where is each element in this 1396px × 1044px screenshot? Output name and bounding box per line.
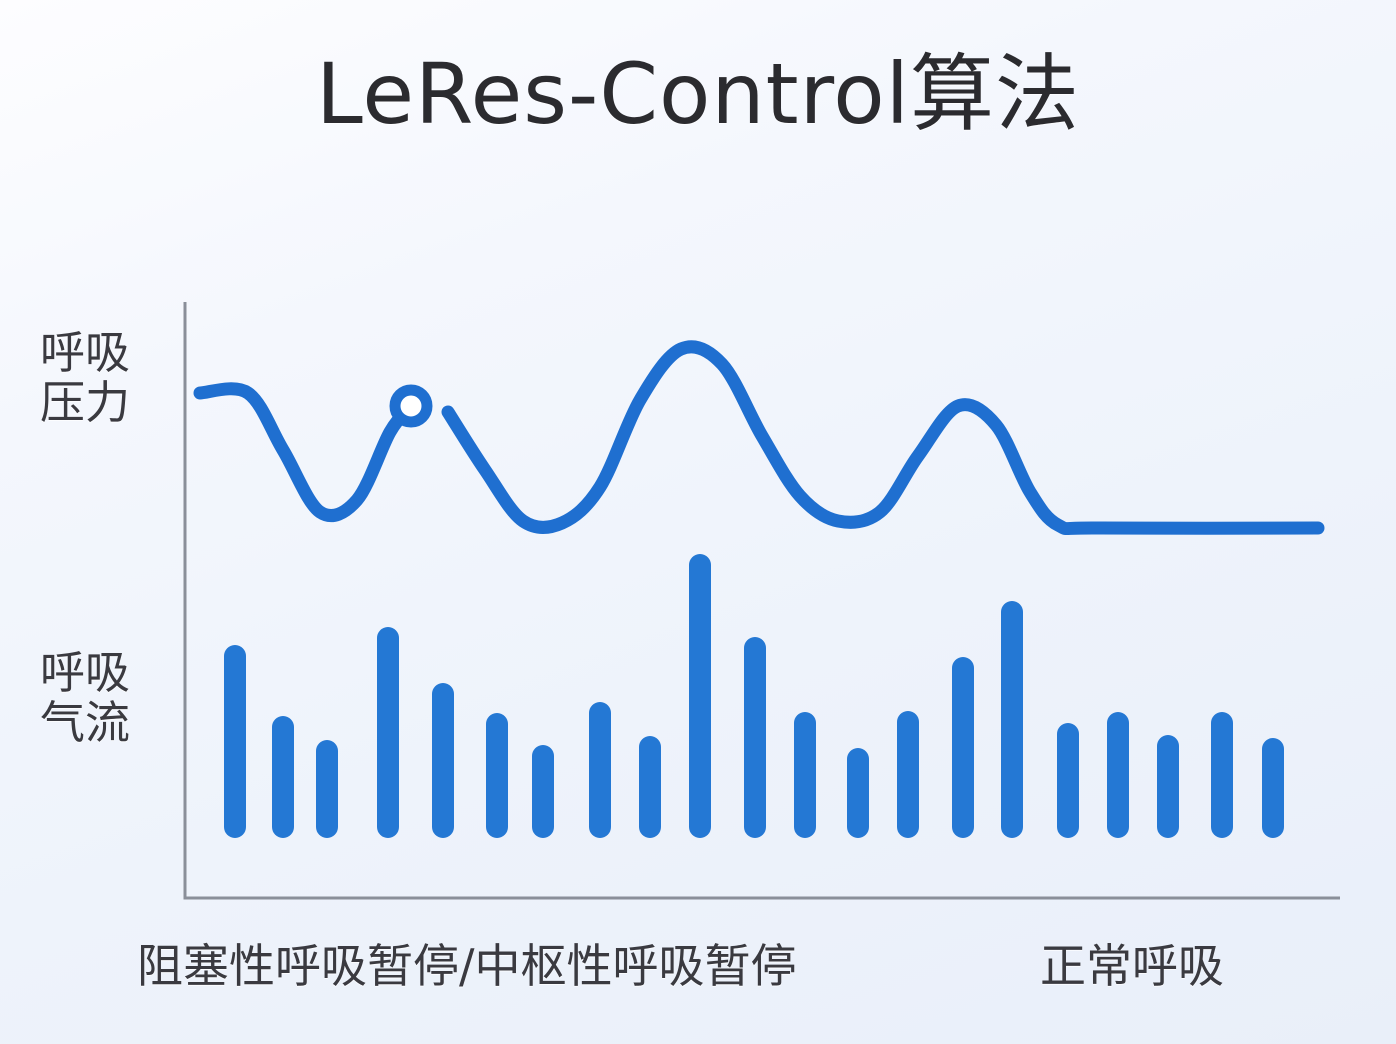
airflow-bar	[224, 645, 246, 838]
airflow-bar	[952, 657, 974, 838]
airflow-bar	[589, 702, 611, 838]
airflow-bar	[1001, 601, 1023, 838]
airflow-bar	[1157, 735, 1179, 838]
pressure-curve-segment	[448, 347, 1318, 529]
airflow-bar	[1057, 723, 1079, 838]
airflow-bar	[1107, 712, 1129, 838]
chart-canvas: LeRes-Control算法 呼吸 压力 呼吸 气流 阻塞性呼吸暂停/中枢性呼…	[0, 0, 1396, 1044]
airflow-bar	[486, 713, 508, 838]
airflow-bar	[1211, 712, 1233, 838]
airflow-bar	[316, 740, 338, 838]
airflow-bar	[532, 745, 554, 838]
airflow-bar	[744, 637, 766, 838]
airflow-bar	[1262, 738, 1284, 838]
chart-plot-area	[0, 0, 1396, 1044]
pressure-line-series	[200, 347, 1318, 529]
airflow-bar	[272, 716, 294, 838]
pressure-point-marker	[395, 390, 427, 422]
pressure-marker-circle-icon	[395, 390, 427, 422]
airflow-bar	[897, 711, 919, 838]
airflow-bar-series	[224, 554, 1284, 838]
airflow-bar	[639, 736, 661, 838]
airflow-bar	[432, 683, 454, 838]
pressure-curve-segment	[200, 389, 411, 516]
airflow-bar	[377, 627, 399, 838]
airflow-bar	[847, 748, 869, 838]
airflow-bar	[689, 554, 711, 838]
airflow-bar	[794, 712, 816, 838]
